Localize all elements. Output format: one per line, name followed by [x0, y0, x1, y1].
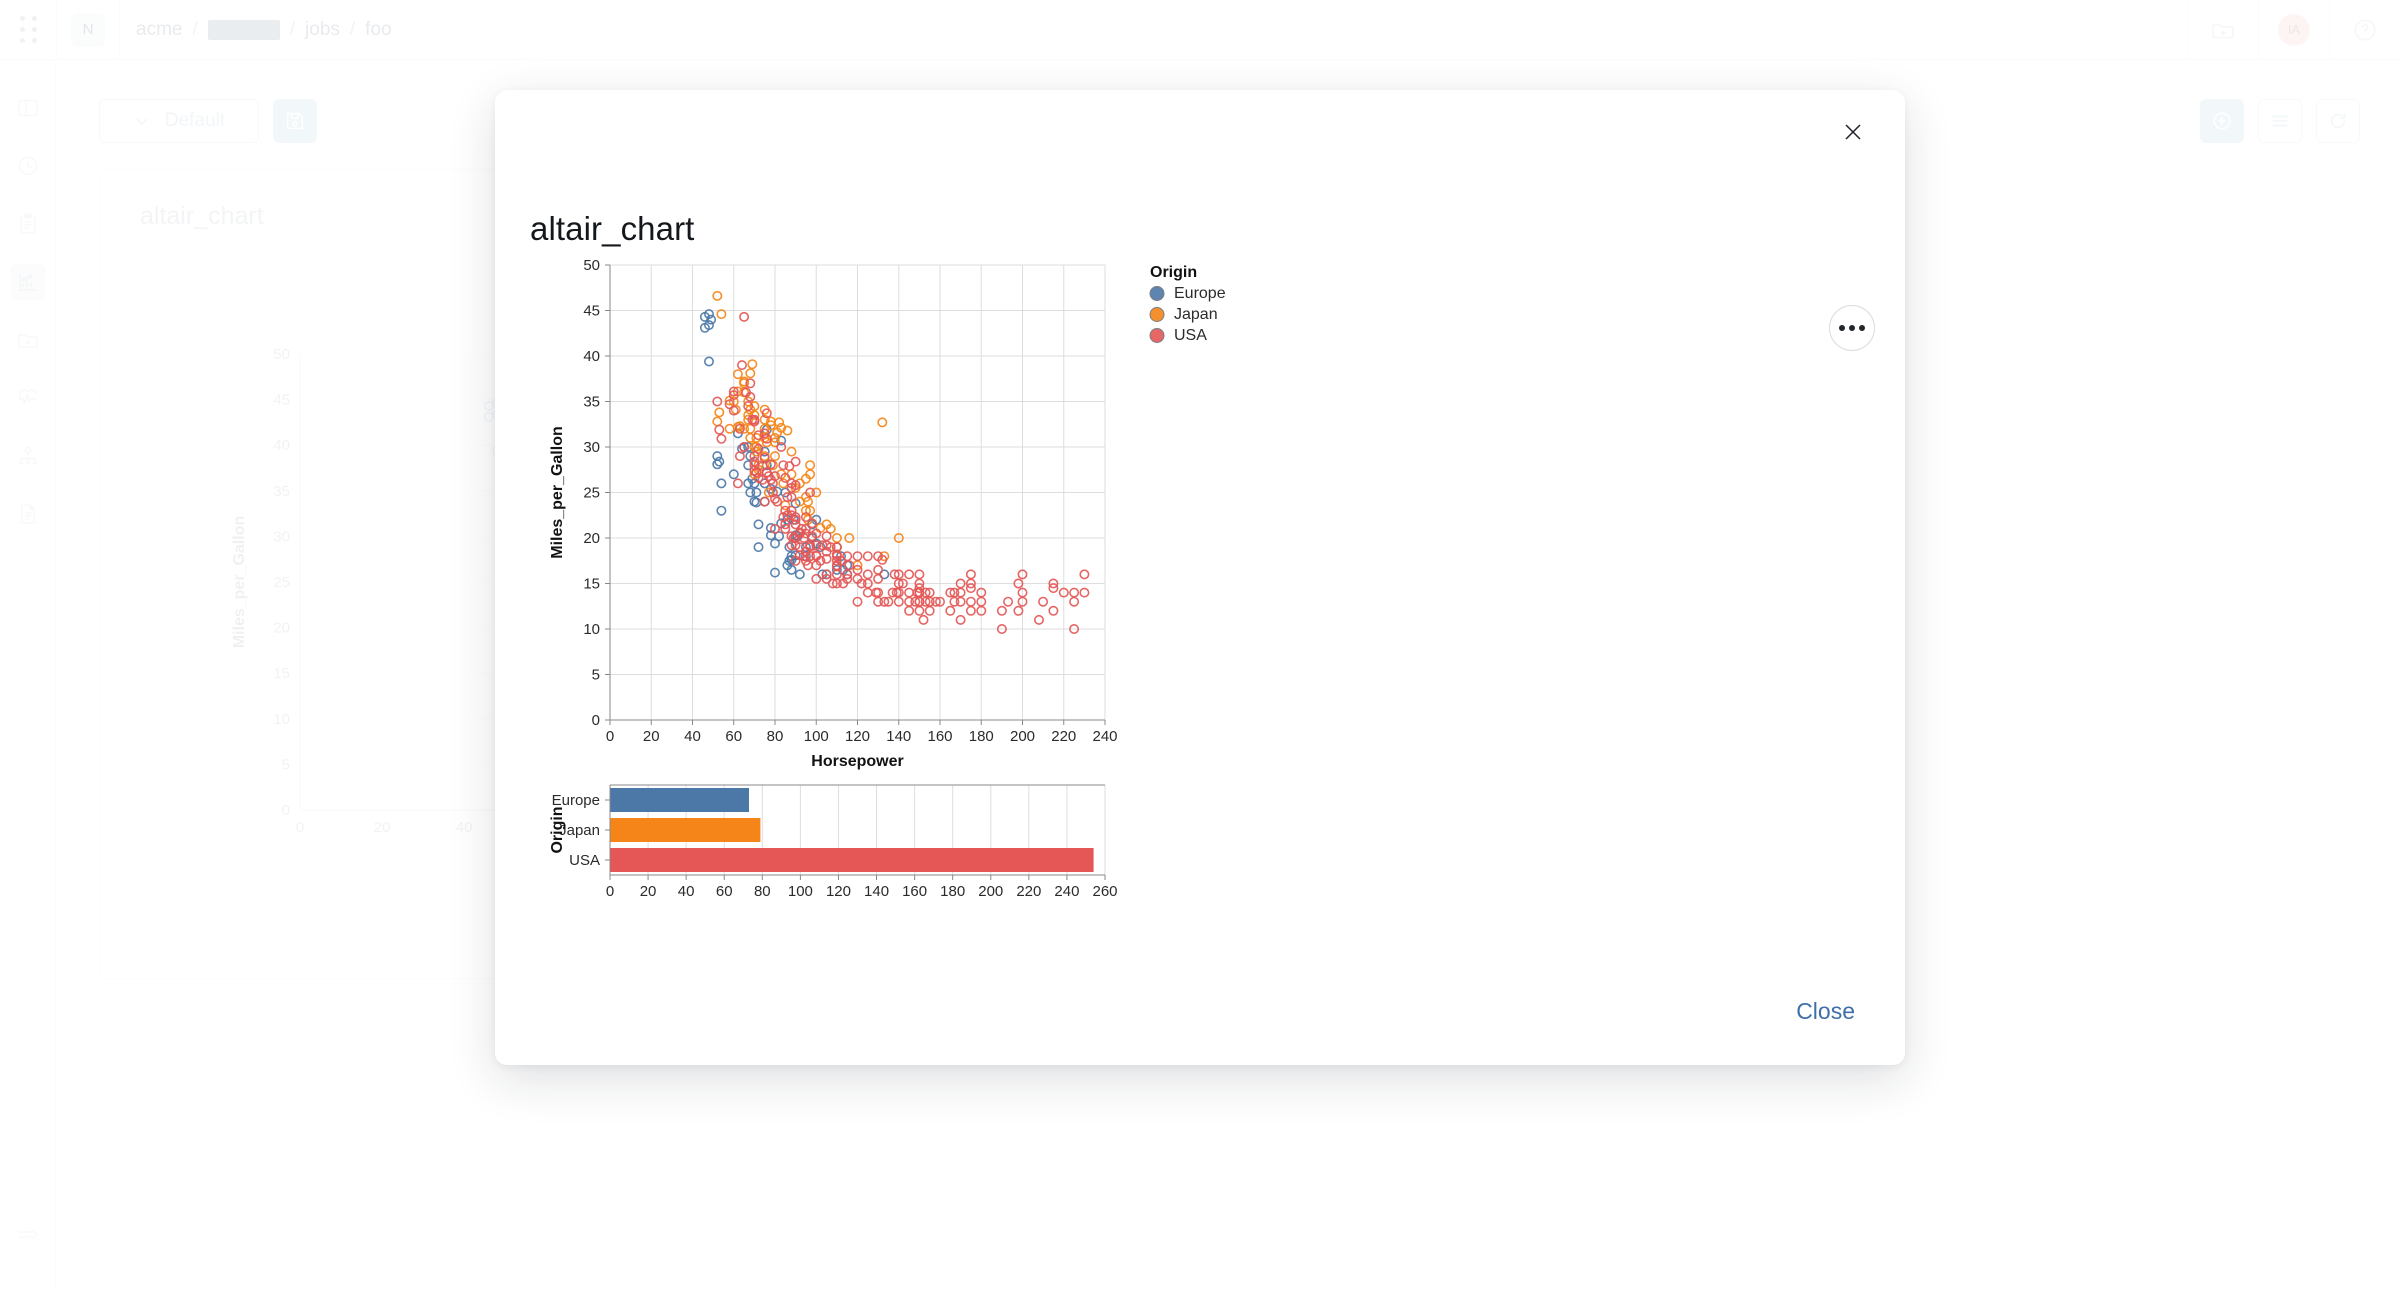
svg-text:Europe: Europe	[1174, 285, 1226, 302]
svg-text:80: 80	[754, 883, 771, 900]
scatter-gridlines	[610, 265, 1105, 720]
svg-text:120: 120	[845, 728, 870, 745]
svg-text:50: 50	[583, 257, 600, 274]
svg-text:30: 30	[583, 439, 600, 456]
svg-text:40: 40	[678, 883, 695, 900]
scatter-axis-labels: 0204060801001201401601802002202400510152…	[549, 257, 1118, 770]
scatter-axes	[605, 265, 1105, 725]
svg-text:160: 160	[927, 728, 952, 745]
chart-legend[interactable]: OriginEuropeJapanUSA	[1150, 264, 1226, 344]
svg-text:USA: USA	[1174, 327, 1207, 344]
svg-text:Japan: Japan	[1174, 306, 1218, 323]
svg-text:USA: USA	[569, 852, 600, 869]
svg-text:20: 20	[640, 883, 657, 900]
scatter-points	[701, 292, 1089, 633]
altair-chart-svg[interactable]: 0204060801001201401601802002202400510152…	[530, 255, 1870, 975]
svg-text:5: 5	[592, 667, 600, 684]
svg-text:35: 35	[583, 394, 600, 411]
svg-text:100: 100	[788, 883, 813, 900]
svg-text:240: 240	[1054, 883, 1079, 900]
svg-text:0: 0	[606, 883, 614, 900]
svg-text:260: 260	[1092, 883, 1117, 900]
close-icon[interactable]	[1833, 112, 1873, 152]
svg-text:Miles_per_Gallon: Miles_per_Gallon	[549, 426, 566, 559]
svg-text:10: 10	[583, 621, 600, 638]
vega-visualization: 0204060801001201401601802002202400510152…	[530, 255, 1870, 975]
svg-text:20: 20	[643, 728, 660, 745]
bar-series	[610, 788, 1094, 872]
svg-text:Origin: Origin	[549, 806, 566, 853]
svg-text:240: 240	[1092, 728, 1117, 745]
svg-text:160: 160	[902, 883, 927, 900]
svg-text:0: 0	[606, 728, 614, 745]
svg-text:80: 80	[767, 728, 784, 745]
svg-text:220: 220	[1016, 883, 1041, 900]
svg-text:200: 200	[1010, 728, 1035, 745]
svg-text:Origin: Origin	[1150, 264, 1197, 281]
svg-text:40: 40	[583, 348, 600, 365]
svg-text:60: 60	[725, 728, 742, 745]
svg-text:25: 25	[583, 485, 600, 502]
svg-text:40: 40	[684, 728, 701, 745]
svg-text:45: 45	[583, 303, 600, 320]
svg-text:Horsepower: Horsepower	[811, 753, 903, 770]
svg-text:200: 200	[978, 883, 1003, 900]
page-title: altair_chart	[530, 210, 694, 248]
svg-text:180: 180	[940, 883, 965, 900]
svg-text:120: 120	[826, 883, 851, 900]
svg-text:60: 60	[716, 883, 733, 900]
close-button[interactable]: Close	[1782, 988, 1869, 1035]
chart-detail-modal: altair_chart 020406080100120140160180200…	[495, 90, 1905, 1065]
svg-text:140: 140	[864, 883, 889, 900]
svg-text:15: 15	[583, 576, 600, 593]
svg-text:220: 220	[1051, 728, 1076, 745]
svg-text:180: 180	[969, 728, 994, 745]
svg-text:140: 140	[886, 728, 911, 745]
svg-text:0: 0	[592, 712, 600, 729]
svg-text:100: 100	[804, 728, 829, 745]
svg-text:20: 20	[583, 530, 600, 547]
